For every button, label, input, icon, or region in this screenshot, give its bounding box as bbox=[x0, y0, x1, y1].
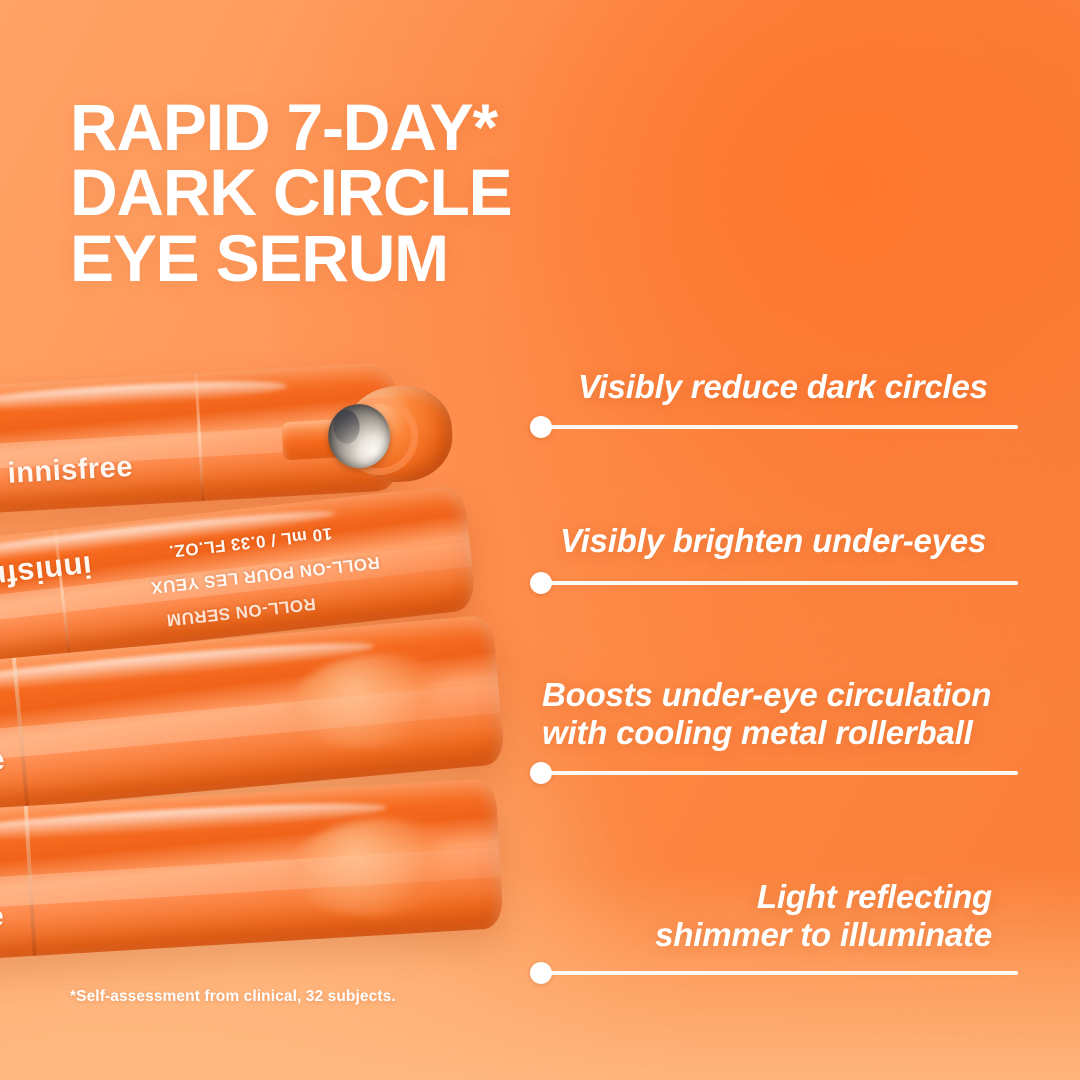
benefit-callout-2-text: Visibly brighten under-eyes bbox=[560, 522, 986, 560]
tube-2-product-name-french: ROLL-ON POUR LES YEUX bbox=[150, 552, 381, 598]
tube-3-cap-seam bbox=[12, 658, 30, 808]
tube-2-seam bbox=[54, 530, 71, 656]
product-tube-4: nisfree nisfree bbox=[0, 778, 504, 966]
tube-3-brand-logo: nisfree bbox=[0, 743, 7, 786]
tube-4-inner-rollerball-shadow bbox=[287, 814, 467, 920]
benefit-callout-2-rule bbox=[548, 581, 1018, 585]
product-tube-2: innisfree 10 mL / 0.33 FL.OZ. ROLL-ON PO… bbox=[0, 484, 477, 676]
page-title: RAPID 7-DAY* DARK CIRCLE EYE SERUM bbox=[70, 95, 710, 291]
benefit-callout-3-text: Boosts under-eye circulation with coolin… bbox=[542, 676, 991, 751]
tube-1-brand-logo: innisfree bbox=[7, 451, 134, 491]
benefit-callout-3-line-1: Boosts under-eye circulation bbox=[542, 676, 991, 713]
benefit-callout-1-text: Visibly reduce dark circles bbox=[578, 368, 988, 406]
benefit-callout-4: Light reflecting shimmer to illuminate bbox=[530, 878, 1040, 982]
tube-4-body bbox=[0, 778, 504, 966]
tube-2-serum-line: ROLL-ON SERUM bbox=[165, 593, 316, 630]
product-tube-1: IDE UM innisfree bbox=[0, 362, 403, 516]
tube-1-body bbox=[0, 362, 403, 516]
tube-3-inner-rollerball-shadow bbox=[285, 648, 463, 755]
tube-4-gloss bbox=[0, 797, 387, 847]
tube-4-brand-logo: nisfree bbox=[0, 900, 5, 940]
benefit-callout-3: Boosts under-eye circulation with coolin… bbox=[530, 676, 1040, 784]
benefit-callout-4-line-2: shimmer to illuminate bbox=[655, 916, 992, 954]
applicator-head-rim bbox=[338, 395, 420, 477]
tube-3-gloss bbox=[0, 635, 375, 700]
benefit-callout-4-text: Light reflecting shimmer to illuminate bbox=[655, 878, 992, 953]
tube-1-seam bbox=[194, 373, 204, 501]
footnote-disclaimer: *Self-assessment from clinical, 32 subje… bbox=[70, 988, 396, 1006]
tube-1-gloss bbox=[0, 376, 288, 414]
rollerball-applicator bbox=[280, 381, 495, 489]
benefit-callout-3-line-2: with cooling metal rollerball bbox=[542, 714, 973, 751]
applicator-head bbox=[341, 383, 454, 485]
benefit-callout-3-rule bbox=[548, 771, 1018, 775]
benefit-callout-4-rule bbox=[548, 971, 1018, 975]
tube-4-cap-seam bbox=[24, 806, 37, 956]
metal-rollerball-icon bbox=[326, 402, 391, 469]
benefit-callout-1: Visibly reduce dark circles bbox=[530, 368, 1040, 448]
tube-2-gloss bbox=[0, 504, 337, 570]
applicator-neck bbox=[281, 418, 369, 461]
product-tube-3: nisfree bbox=[0, 614, 505, 821]
tube-3-body bbox=[0, 614, 505, 821]
tube-2-body bbox=[0, 484, 477, 676]
benefit-callout-1-rule bbox=[548, 425, 1018, 429]
tube-2-volume: 10 mL / 0.33 FL.OZ. bbox=[168, 523, 333, 561]
tube-2-brand-logo: innisfree bbox=[0, 548, 94, 599]
headline-line-3: EYE SERUM bbox=[70, 226, 710, 291]
product-image-stack: IDE UM innisfree innisfree 10 mL / 0.33 … bbox=[0, 365, 570, 1005]
headline-line-1: RAPID 7-DAY* bbox=[70, 95, 710, 160]
benefit-callout-4-line-1: Light reflecting bbox=[655, 878, 992, 916]
headline-line-2: DARK CIRCLE bbox=[70, 160, 710, 225]
benefit-callout-2: Visibly brighten under-eyes bbox=[530, 522, 1040, 602]
